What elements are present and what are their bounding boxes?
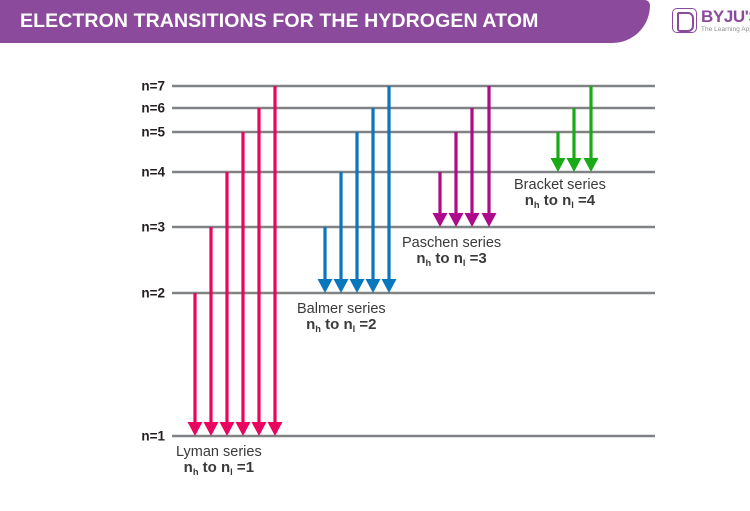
series-name: Bracket series — [514, 177, 606, 193]
arrow-balmer-n3-to-n2 — [318, 227, 333, 293]
arrow-lyman-n6-to-n1 — [252, 108, 267, 436]
arrow-lyman-n2-to-n1 — [188, 293, 203, 436]
logo-tagline: The Learning App — [701, 27, 750, 33]
arrow-paschen-n6-to-n3 — [465, 108, 480, 227]
arrow-head — [449, 213, 464, 227]
series-label-paschen: Paschen seriesnh to nl =3 — [402, 235, 501, 268]
arrow-paschen-n5-to-n3 — [449, 132, 464, 227]
arrow-balmer-n4-to-n2 — [334, 172, 349, 293]
arrow-head — [382, 279, 397, 293]
arrow-balmer-n6-to-n2 — [366, 108, 381, 293]
arrow-head — [188, 422, 203, 436]
arrow-lyman-n5-to-n1 — [236, 132, 251, 436]
level-label-n2: n=2 — [0, 286, 165, 301]
arrow-balmer-n7-to-n2 — [382, 86, 397, 293]
arrow-bracket-n7-to-n4 — [584, 86, 599, 172]
level-label-n3: n=3 — [0, 220, 165, 235]
arrow-head — [268, 422, 283, 436]
arrow-bracket-n5-to-n4 — [551, 132, 566, 172]
series-formula: nh to nl =1 — [176, 460, 262, 477]
series-name: Balmer series — [297, 301, 386, 317]
arrow-head — [318, 279, 333, 293]
arrow-head — [204, 422, 219, 436]
series-formula: nh to nl =4 — [514, 193, 606, 210]
arrow-head — [482, 213, 497, 227]
series-name: Paschen series — [402, 235, 501, 251]
arrow-lyman-n4-to-n1 — [220, 172, 235, 436]
series-label-bracket: Bracket seriesnh to nl =4 — [514, 177, 606, 210]
page-title: ELECTRON TRANSITIONS FOR THE HYDROGEN AT… — [20, 10, 538, 33]
level-label-n1: n=1 — [0, 429, 165, 444]
series-formula: nh to nl =2 — [297, 317, 386, 334]
title-banner: ELECTRON TRANSITIONS FOR THE HYDROGEN AT… — [0, 0, 650, 43]
transition-arrows — [188, 86, 599, 436]
series-formula: nh to nl =3 — [402, 251, 501, 268]
arrow-head — [252, 422, 267, 436]
level-label-n4: n=4 — [0, 165, 165, 180]
logo-brand-name: BYJU'S — [701, 8, 750, 25]
energy-level-diagram: n=7n=6n=5n=4n=3n=2n=1 Lyman seriesnh to … — [0, 46, 750, 511]
arrow-head — [220, 422, 235, 436]
page-header: ELECTRON TRANSITIONS FOR THE HYDROGEN AT… — [0, 0, 750, 46]
arrow-head — [433, 213, 448, 227]
arrow-head — [236, 422, 251, 436]
arrow-lyman-n7-to-n1 — [268, 86, 283, 436]
series-name: Lyman series — [176, 444, 262, 460]
level-label-n7: n=7 — [0, 79, 165, 94]
arrow-balmer-n5-to-n2 — [350, 132, 365, 293]
arrow-lyman-n3-to-n1 — [204, 227, 219, 436]
byjus-logo: BYJU'S The Learning App — [672, 8, 750, 33]
arrow-paschen-n4-to-n3 — [433, 172, 448, 227]
arrow-head — [551, 158, 566, 172]
arrow-head — [567, 158, 582, 172]
arrow-head — [584, 158, 599, 172]
level-label-n5: n=5 — [0, 125, 165, 140]
series-label-lyman: Lyman seriesnh to nl =1 — [176, 444, 262, 477]
series-label-balmer: Balmer seriesnh to nl =2 — [297, 301, 386, 334]
arrow-head — [334, 279, 349, 293]
level-label-n6: n=6 — [0, 101, 165, 116]
arrow-head — [366, 279, 381, 293]
arrow-head — [465, 213, 480, 227]
logo-b-glyph — [677, 12, 694, 32]
arrow-bracket-n6-to-n4 — [567, 108, 582, 172]
logo-wordmark: BYJU'S The Learning App — [701, 8, 750, 33]
arrow-head — [350, 279, 365, 293]
byjus-logo-icon — [672, 8, 697, 33]
